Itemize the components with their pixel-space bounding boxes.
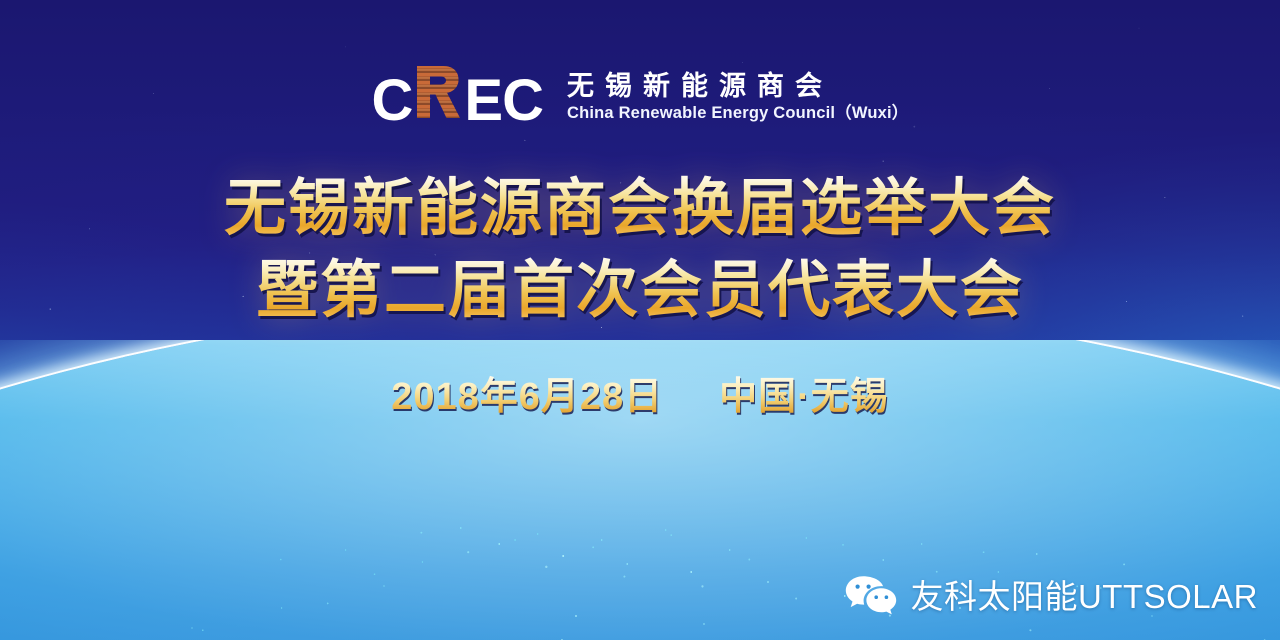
organization-logo: C [0, 64, 1280, 130]
cec-letter-c2: C [502, 72, 543, 130]
cec-letter-e: E [464, 72, 502, 130]
logo-text-block: 无锡新能源商会 China Renewable Energy Council（W… [567, 73, 909, 122]
wechat-icon [844, 574, 898, 618]
event-poster: C [0, 0, 1280, 640]
poster-headline: 无锡新能源商会换届选举大会 暨第二届首次会员代表大会 [0, 168, 1280, 333]
event-location: 中国·无锡 [719, 375, 889, 421]
cec-wordmark: C [371, 64, 542, 130]
logo-chinese-name: 无锡新能源商会 [567, 73, 909, 100]
headline-line-1: 无锡新能源商会换届选举大会 [0, 168, 1280, 250]
wechat-account-name: 友科太阳能UTTSOLAR [910, 580, 1258, 613]
striped-r-solar-icon [413, 64, 463, 120]
logo-english-name: China Renewable Energy Council（Wuxi） [567, 105, 909, 122]
cec-letter-c1: C [371, 72, 412, 130]
event-date: 2018年6月28日 [391, 375, 663, 421]
headline-line-2: 暨第二届首次会员代表大会 [0, 250, 1280, 332]
wechat-watermark: 友科太阳能UTTSOLAR [844, 574, 1258, 618]
event-details: 2018年6月28日 中国·无锡 [0, 375, 1280, 421]
